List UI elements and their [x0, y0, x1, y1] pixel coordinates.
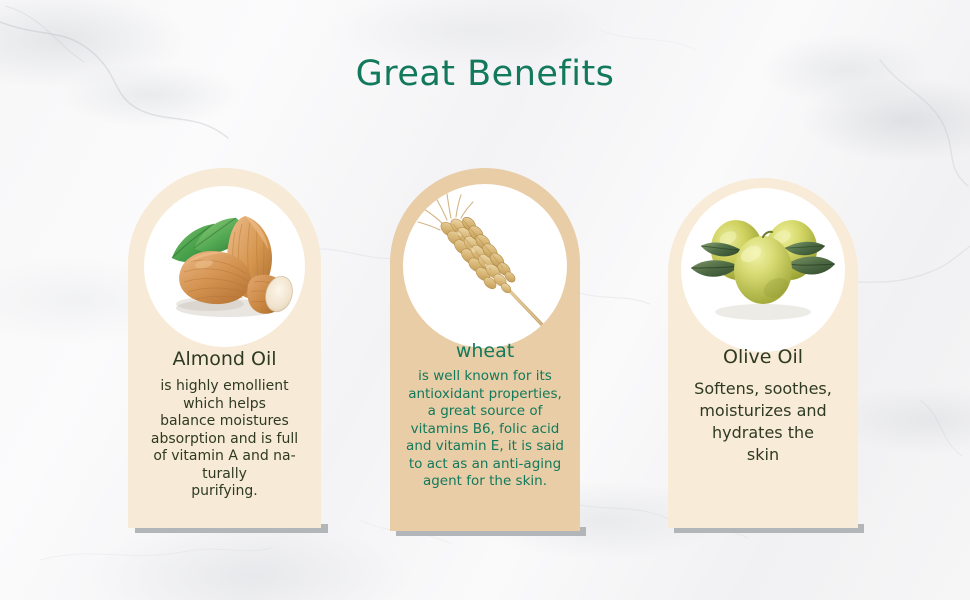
green-olives-with-leaves-photo — [681, 188, 845, 352]
benefit-card-almond[interactable]: Almond Oil is highly emollient which hel… — [128, 168, 321, 528]
almond-image-circle — [144, 186, 305, 347]
benefit-card-olive[interactable]: Olive Oil Softens, soothes, moisturizes … — [668, 178, 858, 528]
page-title: Great Benefits — [0, 54, 970, 94]
card-body-olive: Softens, soothes, moisturizes and hydrat… — [674, 378, 852, 466]
card-heading-olive: Olive Oil — [668, 346, 858, 368]
benefit-card-wheat[interactable]: wheat is well known for its antioxidant … — [390, 168, 580, 531]
card-heading-almond: Almond Oil — [128, 348, 321, 370]
wheat-stalk-photo — [403, 184, 567, 348]
almonds-with-leaves-photo — [144, 186, 305, 347]
card-body-almond: is highly emollient which helps balance … — [136, 378, 313, 501]
card-heading-wheat: wheat — [390, 340, 580, 362]
wheat-image-circle — [403, 184, 567, 348]
olive-image-circle — [681, 188, 845, 352]
card-body-wheat: is well known for its antioxidant proper… — [394, 368, 576, 491]
